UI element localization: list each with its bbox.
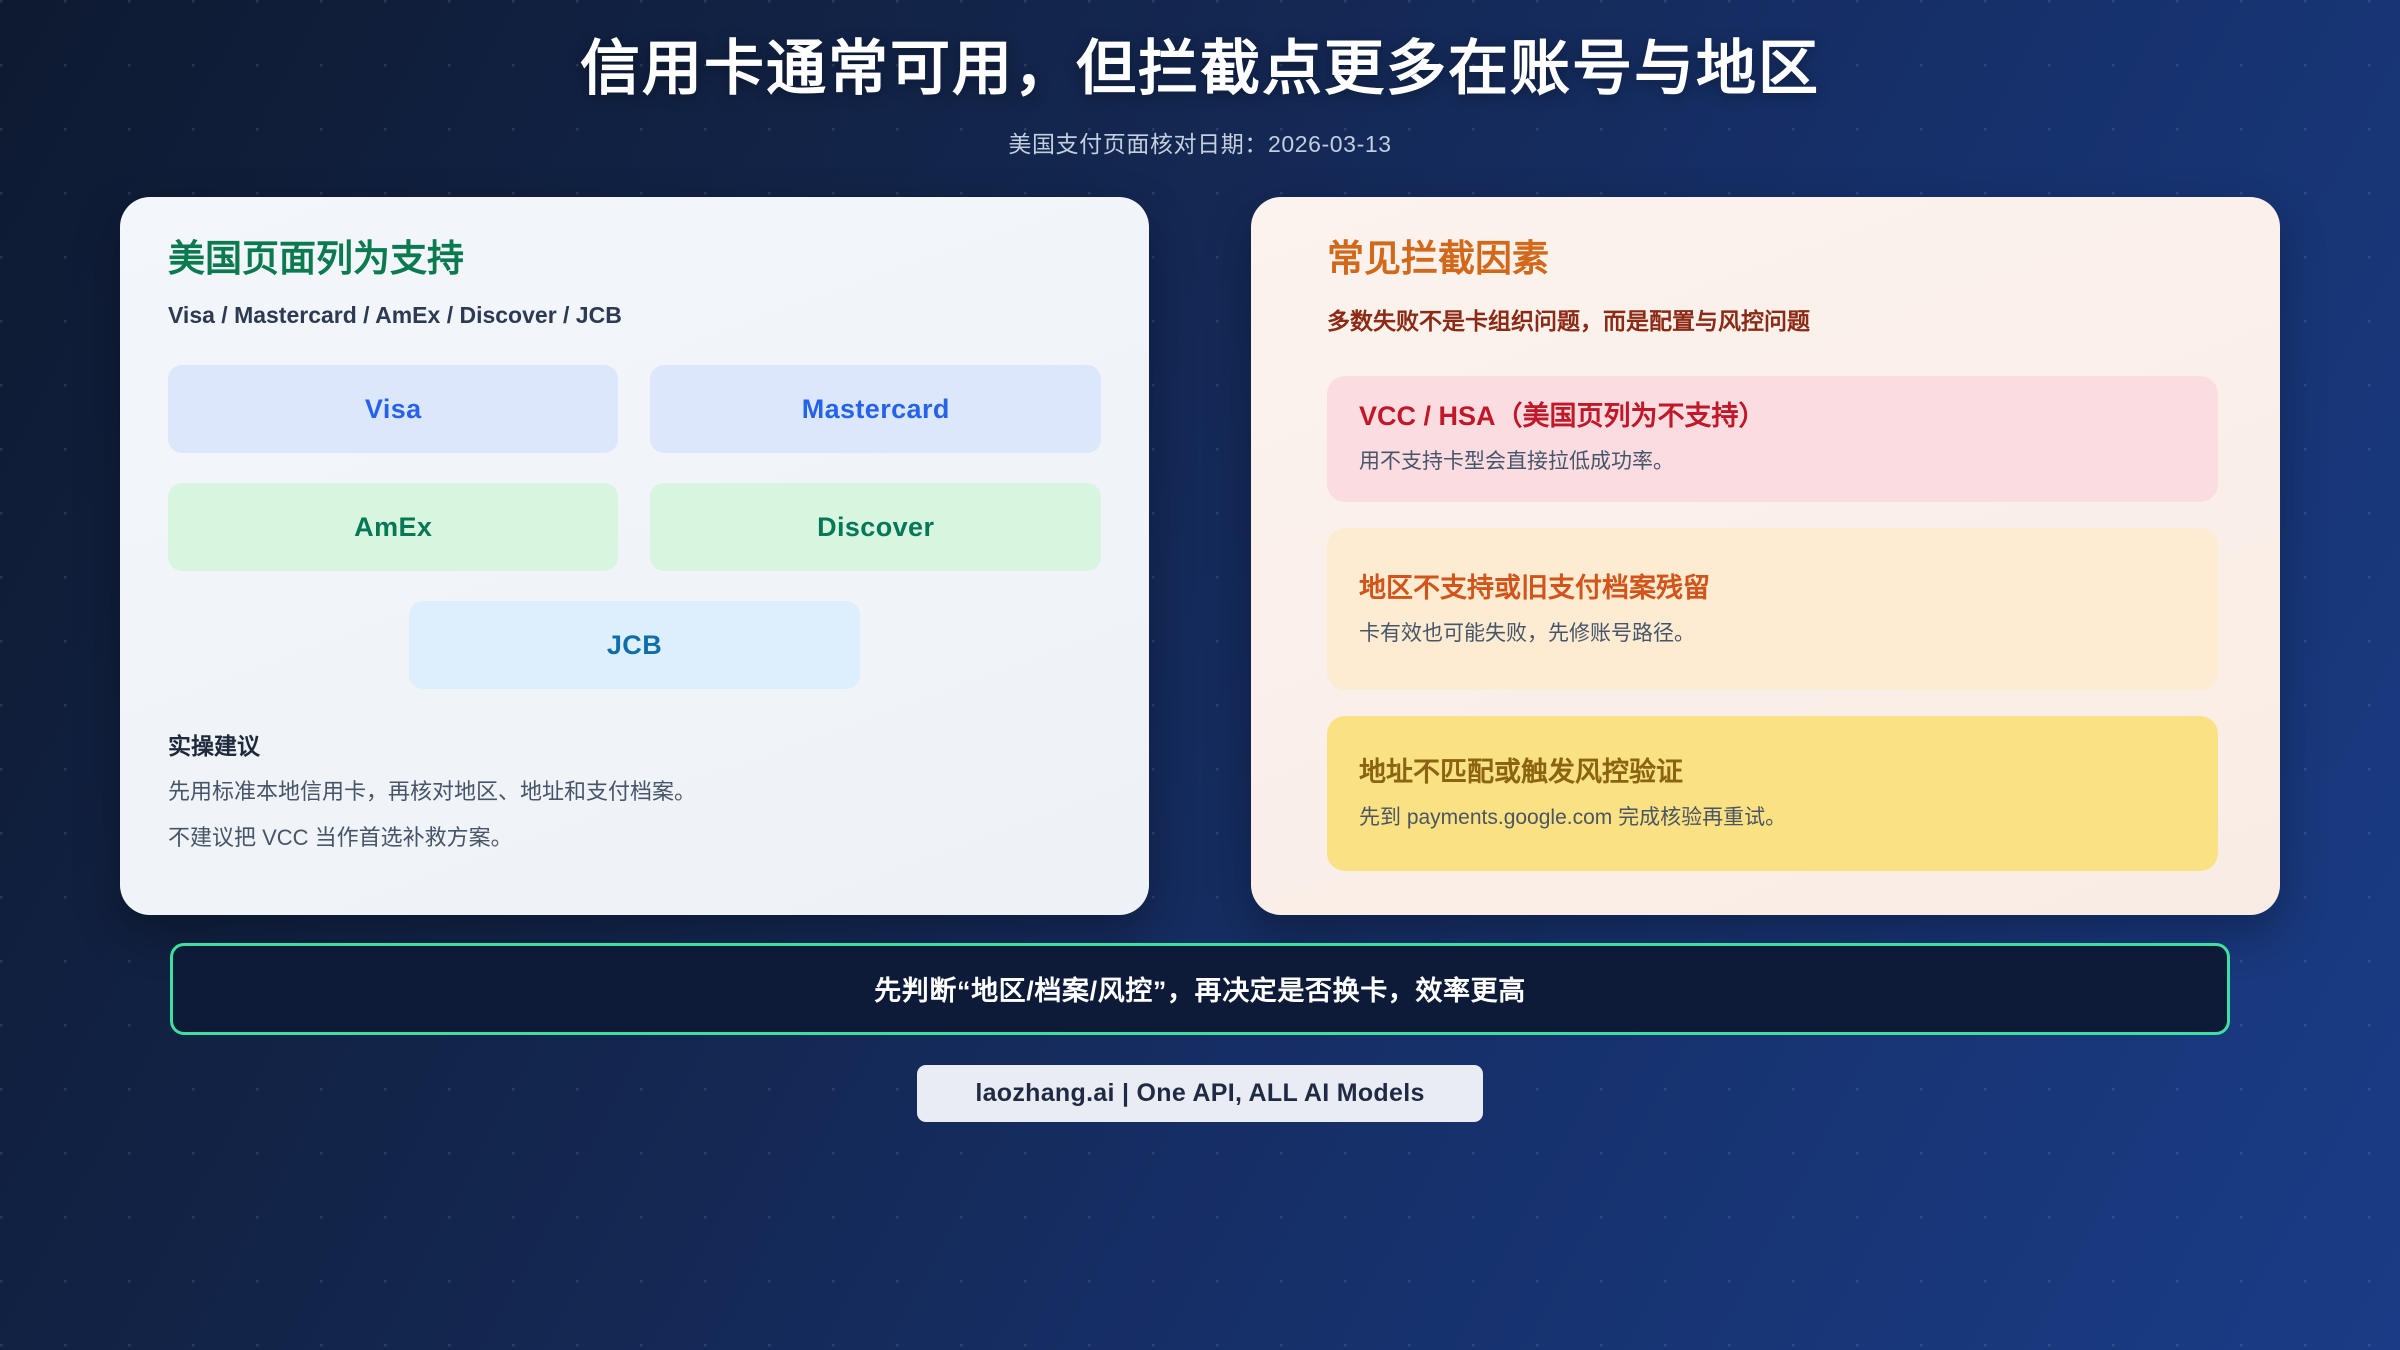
supported-cards-subtitle: Visa / Mastercard / AmEx / Discover / JC…	[168, 302, 1101, 329]
chip-discover[interactable]: Discover	[650, 483, 1100, 571]
brand-bar: laozhang.ai | One API, ALL AI Models	[917, 1065, 1482, 1122]
infographic-page: 信用卡通常可用，但拦截点更多在账号与地区 美国支付页面核对日期：2026-03-…	[0, 0, 2400, 1350]
blocker-desc: 用不支持卡型会直接拉低成功率。	[1359, 447, 2186, 476]
blockers-title: 常见拦截因素	[1327, 237, 2218, 281]
cards-row: 美国页面列为支持 Visa / Mastercard / AmEx / Disc…	[120, 197, 2280, 915]
advice-title: 实操建议	[168, 727, 1101, 761]
supported-cards-panel: 美国页面列为支持 Visa / Mastercard / AmEx / Disc…	[120, 197, 1149, 915]
page-subtitle: 美国支付页面核对日期：2026-03-13	[0, 125, 2400, 159]
summary-banner-wrap: 先判断“地区/档案/风控”，再决定是否换卡，效率更高	[170, 943, 2230, 1035]
summary-banner: 先判断“地区/档案/风控”，再决定是否换卡，效率更高	[170, 943, 2230, 1035]
blocker-list: VCC / HSA（美国页列为不支持） 用不支持卡型会直接拉低成功率。 地区不支…	[1327, 376, 2218, 870]
brand-bar-wrap: laozhang.ai | One API, ALL AI Models	[0, 1065, 2400, 1122]
blocker-item-region-profile[interactable]: 地区不支持或旧支付档案残留 卡有效也可能失败，先修账号路径。	[1327, 528, 2218, 690]
header: 信用卡通常可用，但拦截点更多在账号与地区 美国支付页面核对日期：2026-03-…	[0, 0, 2400, 159]
advice-section: 实操建议 先用标准本地信用卡，再核对地区、地址和支付档案。 不建议把 VCC 当…	[168, 727, 1101, 853]
chip-visa[interactable]: Visa	[168, 365, 618, 453]
blocker-title: 地址不匹配或触发风控验证	[1359, 756, 2186, 790]
blocker-item-vcc-hsa[interactable]: VCC / HSA（美国页列为不支持） 用不支持卡型会直接拉低成功率。	[1327, 376, 2218, 502]
card-brand-chips: Visa Mastercard AmEx Discover JCB	[168, 365, 1101, 689]
advice-line-2: 不建议把 VCC 当作首选补救方案。	[168, 822, 1101, 853]
supported-cards-title: 美国页面列为支持	[168, 237, 1101, 281]
blocker-title: VCC / HSA（美国页列为不支持）	[1359, 400, 2186, 434]
blockers-panel: 常见拦截因素 多数失败不是卡组织问题，而是配置与风控问题 VCC / HSA（美…	[1251, 197, 2280, 915]
blocker-title: 地区不支持或旧支付档案残留	[1359, 572, 2186, 606]
blocker-item-address-risk[interactable]: 地址不匹配或触发风控验证 先到 payments.google.com 完成核验…	[1327, 716, 2218, 870]
advice-line-1: 先用标准本地信用卡，再核对地区、地址和支付档案。	[168, 776, 1101, 807]
chip-jcb[interactable]: JCB	[409, 601, 859, 689]
page-title: 信用卡通常可用，但拦截点更多在账号与地区	[0, 34, 2400, 105]
chip-mastercard[interactable]: Mastercard	[650, 365, 1100, 453]
blocker-desc: 卡有效也可能失败，先修账号路径。	[1359, 619, 2186, 648]
blocker-desc: 先到 payments.google.com 完成核验再重试。	[1359, 803, 2186, 832]
blockers-subtitle: 多数失败不是卡组织问题，而是配置与风控问题	[1327, 302, 2218, 336]
chip-amex[interactable]: AmEx	[168, 483, 618, 571]
